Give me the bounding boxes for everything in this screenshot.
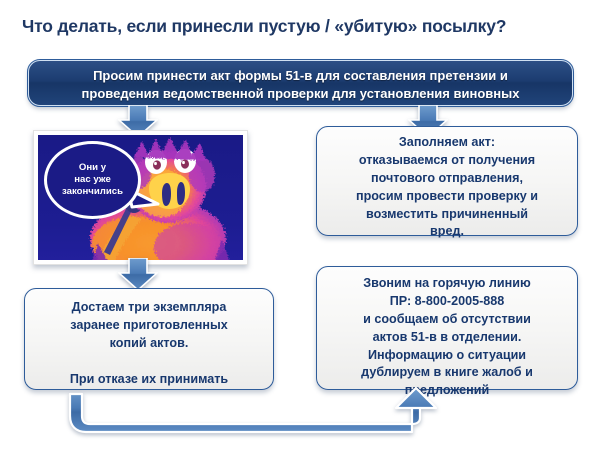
elbow-arrow-up-icon — [60, 378, 480, 438]
speech-bubble-text: Они у нас уже закончились — [62, 162, 123, 198]
slide-canvas: Что делать, если принесли пустую / «убит… — [0, 0, 600, 455]
speech-bubble: Они у нас уже закончились — [44, 141, 141, 219]
box-copies: Достаем три экземпляра заранее приготовл… — [24, 288, 274, 390]
box-fill-act-text: Заполняем акт: отказываемся от получения… — [317, 127, 577, 247]
box-top-request: Просим принести акт формы 51-в для соста… — [28, 60, 573, 106]
box-top-request-text: Просим принести акт формы 51-в для соста… — [29, 61, 572, 109]
box-hotline: Звоним на горячую линию ПР: 8-800-2005-8… — [316, 266, 578, 390]
thermal-photo-canvas: Они у нас уже закончились — [38, 135, 243, 260]
arrow-down-icon — [118, 258, 158, 291]
thermal-photo: Они у нас уже закончились — [33, 130, 248, 265]
box-fill-act: Заполняем акт: отказываемся от получения… — [316, 126, 578, 236]
page-title: Что делать, если принесли пустую / «убит… — [22, 16, 582, 37]
